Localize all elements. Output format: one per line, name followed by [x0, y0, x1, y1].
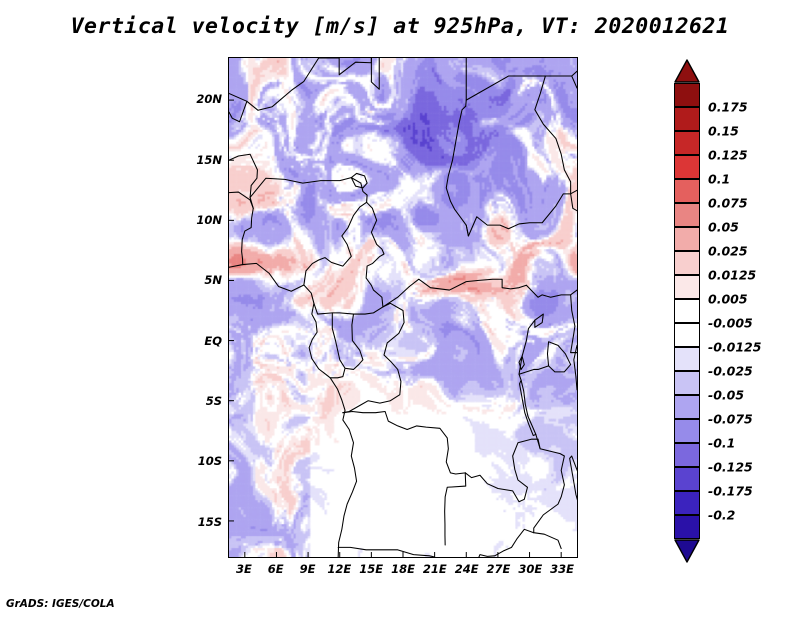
x-tick-label-27E: 27E [487, 562, 511, 576]
colorbar-label-10: -0.0125 [708, 340, 761, 355]
x-tick-label-3E: 3E [236, 562, 252, 576]
colorbar-label-11: -0.025 [708, 364, 753, 379]
colorbar-label-8: 0.005 [708, 292, 748, 307]
colorbar-label-9: -0.005 [708, 316, 753, 331]
x-tick-label-9E: 9E [300, 562, 316, 576]
colorbar-swatch-10[interactable] [674, 323, 700, 347]
colorbar-swatch-18[interactable] [674, 515, 700, 539]
colorbar-swatch-1[interactable] [674, 107, 700, 131]
map-plot-area[interactable] [228, 57, 578, 558]
colorbar-label-14: -0.1 [708, 436, 735, 451]
colorbar-swatch-6[interactable] [674, 227, 700, 251]
colorbar-swatch-4[interactable] [674, 179, 700, 203]
colorbar-swatch-16[interactable] [674, 467, 700, 491]
country-borders-overlay [229, 58, 577, 557]
x-tick-label-33E: 33E [550, 562, 574, 576]
colorbar-label-16: -0.175 [708, 484, 753, 499]
x-tick-label-6E: 6E [268, 562, 284, 576]
colorbar-swatch-5[interactable] [674, 203, 700, 227]
colorbar-label-7: 0.0125 [708, 268, 756, 283]
colorbar-legend[interactable]: 0.1750.150.1250.10.0750.050.0250.01250.0… [668, 57, 788, 562]
colorbar-swatch-3[interactable] [674, 155, 700, 179]
y-tick-label-15S: 15S [198, 515, 222, 529]
page-title: Vertical velocity [m/s] at 925hPa, VT: 2… [0, 14, 800, 39]
x-tick-label-30E: 30E [518, 562, 542, 576]
x-tick-label-24E: 24E [455, 562, 479, 576]
colorbar-swatch-2[interactable] [674, 131, 700, 155]
colorbar-top-arrow [674, 59, 700, 83]
footer-credit: GrADS: IGES/COLA [6, 598, 115, 610]
x-tick-label-21E: 21E [423, 562, 447, 576]
colorbar-bottom-arrow [674, 539, 700, 563]
colorbar-label-5: 0.05 [708, 220, 739, 235]
colorbar-label-2: 0.125 [708, 148, 748, 163]
x-tick-label-15E: 15E [359, 562, 383, 576]
colorbar-label-1: 0.15 [708, 124, 739, 139]
colorbar-label-12: -0.05 [708, 388, 744, 403]
colorbar-label-15: -0.125 [708, 460, 753, 475]
y-tick-label-5S: 5S [206, 394, 222, 408]
colorbar-label-13: -0.075 [708, 412, 753, 427]
x-tick-label-18E: 18E [391, 562, 415, 576]
colorbar-swatch-11[interactable] [674, 347, 700, 371]
y-tick-label-20N: 20N [196, 92, 222, 106]
colorbar-label-0: 0.175 [708, 100, 748, 115]
colorbar-swatch-14[interactable] [674, 419, 700, 443]
colorbar-swatch-8[interactable] [674, 275, 700, 299]
colorbar-label-6: 0.025 [708, 244, 748, 259]
colorbar-label-4: 0.075 [708, 196, 748, 211]
colorbar-swatch-13[interactable] [674, 395, 700, 419]
colorbar-swatch-12[interactable] [674, 371, 700, 395]
colorbar-label-17: -0.2 [708, 508, 735, 523]
colorbar-swatch-9[interactable] [674, 299, 700, 323]
y-tick-label-10N: 10N [196, 213, 222, 227]
colorbar-swatch-17[interactable] [674, 491, 700, 515]
y-tick-label-5N: 5N [204, 273, 222, 287]
y-tick-label-EQ: EQ [204, 334, 222, 348]
colorbar-label-3: 0.1 [708, 172, 730, 187]
colorbar-swatch-0[interactable] [674, 83, 700, 107]
colorbar-swatch-15[interactable] [674, 443, 700, 467]
colorbar-swatch-7[interactable] [674, 251, 700, 275]
y-tick-label-15N: 15N [196, 153, 222, 167]
x-tick-label-12E: 12E [327, 562, 351, 576]
y-tick-label-10S: 10S [198, 454, 222, 468]
